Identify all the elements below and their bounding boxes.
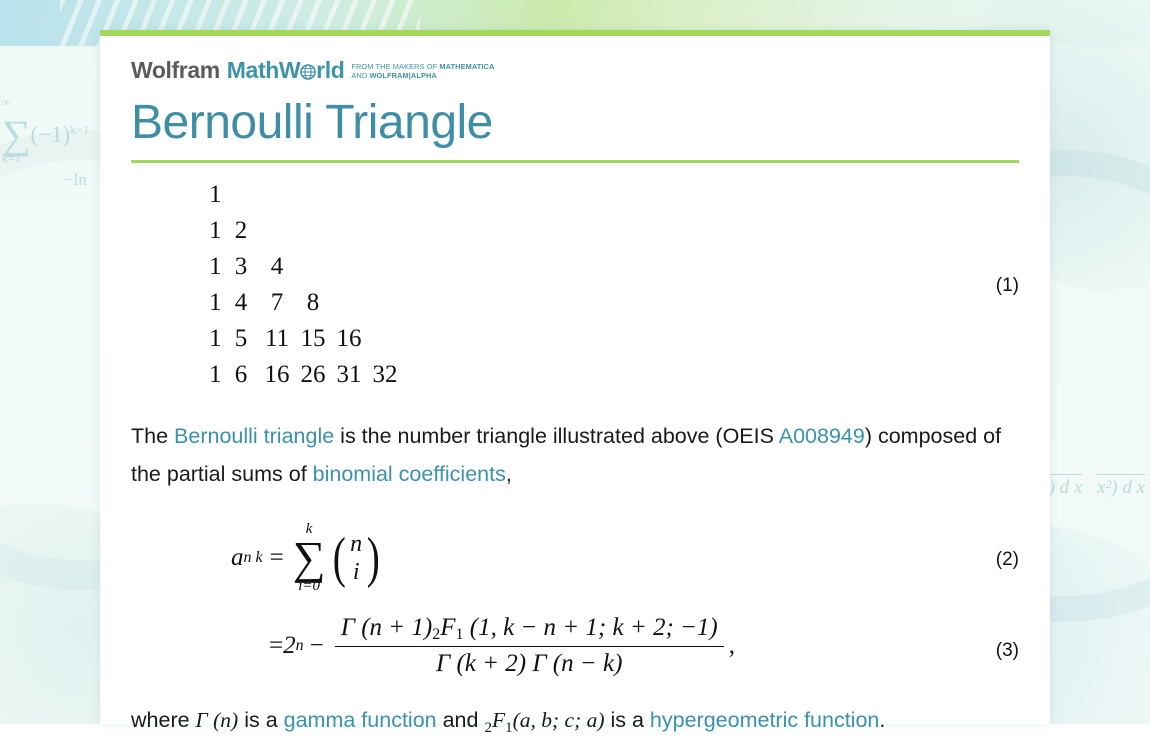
equation-3-equals: =	[269, 632, 283, 660]
triangle-cell: 1	[209, 213, 223, 249]
equation-2: an k = k ∑ i=0 ( n i ) (2)	[131, 515, 1019, 601]
triangle-cell: 7	[259, 285, 295, 321]
title-divider	[131, 160, 1019, 163]
equation-2-body: an k = k ∑ i=0 ( n i )	[231, 522, 383, 594]
triangle-cell: 31	[331, 357, 367, 393]
triangle-cell: 16	[259, 357, 295, 393]
equation-2-lhs-subscript: n k	[244, 549, 263, 567]
logo-tagline: FROM THE MAKERS OF MATHEMATICA AND WOLFR…	[351, 58, 494, 81]
equation-3-base: 2	[283, 632, 296, 660]
where-part-1: where	[131, 708, 196, 732]
where-hyp-F: F	[492, 708, 505, 732]
where-hyp-subscript: 1	[505, 720, 513, 736]
triangle-row: 134	[209, 249, 403, 285]
triangle-cell: 5	[223, 321, 259, 357]
background-formula-left: ∞ ∑(−1)k−1 k=1 −ln	[2, 86, 89, 190]
paragraph-part-4: ,	[506, 462, 512, 486]
equation-number-2: (2)	[996, 549, 1019, 571]
intro-paragraph: The Bernoulli triangle is the number tri…	[131, 417, 1019, 493]
where-hyp-presubscript: 2	[484, 720, 492, 736]
equation-3: =2n − Γ (n + 1)2F1 (1, k − n + 1; k + 2;…	[131, 607, 1019, 685]
background-formula-left-exponent: k−1	[70, 123, 89, 137]
triangle-cell: 6	[223, 357, 259, 393]
logo-math-text: Math	[227, 58, 279, 82]
equation-3-minus: −	[310, 632, 324, 660]
equation-2-lhs-variable: a	[231, 544, 244, 572]
equation-3-trailing-comma: ,	[729, 632, 735, 660]
logo-orld-text: rld	[316, 58, 344, 82]
triangle-cell: 1	[209, 249, 223, 285]
where-gamma-symbol: Γ (n)	[196, 708, 239, 732]
triangle-cell: 8	[295, 285, 331, 321]
equation-3-hyp-F: F	[440, 614, 455, 641]
logo-mathworld-text: MathWrld	[227, 58, 345, 82]
background-formula-left-body: (−1)	[31, 122, 71, 147]
triangle-cell: 26	[295, 357, 331, 393]
summation-sigma-icon: ∑	[293, 537, 326, 579]
where-hyp-arguments: (a, b; c; a)	[513, 708, 605, 732]
background-formula-left-upper: ∞	[2, 95, 11, 109]
equation-number-3: (3)	[996, 640, 1019, 662]
logo-w-text: W	[279, 58, 300, 82]
equation-3-denominator: Γ (k + 2) Γ (n − k)	[430, 647, 628, 680]
where-part-5: .	[879, 708, 885, 732]
where-part-3: and	[437, 708, 485, 732]
equation-3-numerator: Γ (n + 1)2F1 (1, k − n + 1; k + 2; −1)	[335, 612, 724, 646]
content-card: Wolfram MathWrld FROM THE MAKERS OF MATH…	[100, 30, 1050, 724]
triangle-row: 1	[209, 177, 403, 213]
where-part-4: is a	[605, 708, 650, 732]
triangle-row: 1616263132	[209, 357, 403, 393]
summation-lower-limit: i=0	[298, 579, 320, 594]
equation-3-fraction: Γ (n + 1)2F1 (1, k − n + 1; k + 2; −1) Γ…	[335, 612, 724, 680]
triangle-row: 15111516	[209, 321, 403, 357]
equation-3-hyp-subscript: 1	[456, 626, 464, 643]
triangle-rows: 1121341478151115161616263132	[209, 177, 403, 393]
background-formula-right-line-5: x²) d x	[1097, 474, 1145, 500]
site-logo[interactable]: Wolfram MathWrld FROM THE MAKERS OF MATH…	[131, 58, 1019, 84]
globe-icon	[300, 60, 316, 76]
equation-3-body: =2n − Γ (n + 1)2F1 (1, k − n + 1; k + 2;…	[269, 612, 735, 680]
logo-tagline-line2-bold: WOLFRAM|ALPHA	[369, 71, 436, 80]
equation-2-equals: =	[270, 544, 284, 572]
logo-tagline-line2-prefix: AND	[351, 71, 369, 80]
binomial-coefficient: ( n i )	[330, 530, 383, 587]
paragraph-part-1: The	[131, 424, 174, 448]
triangle-cell: 1	[209, 357, 223, 393]
triangle-cell: 1	[209, 177, 223, 213]
triangle-row: 1478	[209, 285, 403, 321]
equation-3-hyp-arguments: (1, k − n + 1; k + 2; −1)	[470, 614, 718, 641]
paragraph-part-2: is the number triangle illustrated above…	[334, 424, 779, 448]
equation-3-exponent: n	[296, 637, 304, 655]
background-formula-left-second: −ln	[64, 170, 89, 190]
triangle-cell: 4	[259, 249, 295, 285]
link-gamma-function[interactable]: gamma function	[284, 708, 437, 732]
triangle-cell: 1	[209, 321, 223, 357]
triangle-cell: 3	[223, 249, 259, 285]
link-oeis-a008949[interactable]: A008949	[779, 424, 865, 448]
link-binomial-coefficients[interactable]: binomial coefficients	[313, 462, 506, 486]
triangle-cell: 1	[209, 285, 223, 321]
link-hypergeometric-function[interactable]: hypergeometric function	[650, 708, 879, 732]
triangle-cell: 4	[223, 285, 259, 321]
triangle-row: 12	[209, 213, 403, 249]
binomial-top: n	[350, 530, 362, 558]
equation-number-1: (1)	[996, 275, 1019, 297]
triangle-cell: 11	[259, 321, 295, 357]
triangle-cell: 16	[331, 321, 367, 357]
logo-tagline-line1-prefix: FROM THE MAKERS OF	[351, 62, 439, 71]
summation-operator: k ∑ i=0	[293, 522, 326, 594]
triangle-cell: 2	[223, 213, 259, 249]
equation-3-numerator-gamma: Γ (n + 1)	[341, 614, 433, 641]
triangle-cell: 32	[367, 357, 403, 393]
triangle-cell: 15	[295, 321, 331, 357]
binomial-bottom: i	[353, 558, 360, 586]
logo-wolfram-text: Wolfram	[131, 58, 220, 82]
where-part-2: is a	[238, 708, 283, 732]
link-bernoulli-triangle[interactable]: Bernoulli triangle	[174, 424, 334, 448]
page-title: Bernoulli Triangle	[131, 94, 1019, 152]
binomial-stack: n i	[348, 530, 364, 587]
bernoulli-triangle-figure: 1121341478151115161616263132 (1)	[131, 177, 1019, 393]
logo-tagline-line1-bold: MATHEMATICA	[439, 62, 494, 71]
where-paragraph: where Γ (n) is a gamma function and 2F1(…	[131, 701, 1019, 747]
background-formula-left-lower: k=1	[2, 152, 89, 166]
